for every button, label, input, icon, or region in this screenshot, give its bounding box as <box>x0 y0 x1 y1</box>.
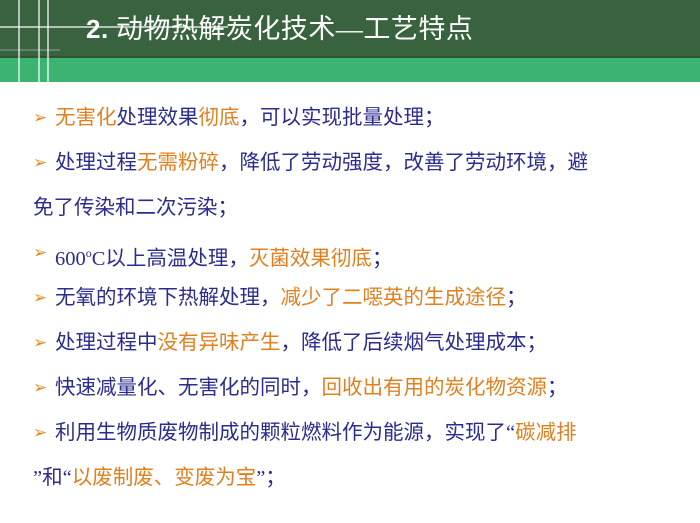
bullet-2-segment-3: ，降低了劳动强度，改善了劳动环境，避 <box>219 152 588 174</box>
bullet-2: ➢处理过程无需粉碎，降低了劳动强度，改善了劳动环境，避 <box>0 141 700 186</box>
bullet-6-text: 快速减量化、无害化的同时，回收出有用的炭化物资源； <box>35 366 568 411</box>
header-light-band <box>0 58 700 82</box>
bullet-1-segment-3: 彻底 <box>199 107 240 129</box>
bullet-2-continuation-text: 免了传染和二次污染； <box>33 186 238 231</box>
bullet-3-segment-5: ； <box>372 248 393 270</box>
arrow-right-bullet-icon: ➢ <box>33 141 47 186</box>
bullet-2-segment-1: 处理过程 <box>55 152 137 174</box>
header-bottom-edge <box>0 82 700 85</box>
bullet-4-text: 无氧的环境下热解处理，减少了二噁英的生成途径； <box>35 276 527 321</box>
bullet-3-segment-4: 灭菌效果彻底 <box>249 248 372 270</box>
bullet-1: ➢无害化处理效果彻底，可以实现批量处理； <box>0 96 700 141</box>
bullet-2-continuation: 免了传染和二次污染； <box>0 186 700 231</box>
bullet-4-segment-2: 减少了二噁英的生成途径 <box>281 287 507 309</box>
arrow-right-bullet-icon: ➢ <box>33 411 47 456</box>
bullet-3: ➢600oC以上高温处理，灭菌效果彻底； <box>0 231 700 276</box>
arrow-right-bullet-icon: ➢ <box>33 276 47 321</box>
bullet-1-text: 无害化处理效果彻底，可以实现批量处理； <box>35 96 445 141</box>
arrow-right-bullet-icon: ➢ <box>33 231 47 276</box>
decorative-grid-line-vertical-3 <box>47 0 49 83</box>
bullet-3-segment-1: 600 <box>55 248 86 270</box>
bullet-5-segment-3: ，降低了后续烟气处理成本； <box>281 332 548 354</box>
slide-title-text: 动物热解炭化技术—工艺特点 <box>116 14 474 44</box>
bullet-7-text: 利用生物质废物制成的颗粒燃料作为能源，实现了“碳减排 <box>35 411 577 456</box>
bullet-7: ➢利用生物质废物制成的颗粒燃料作为能源，实现了“碳减排 <box>0 411 700 456</box>
bullet-6-segment-1: 快速减量化、无害化的同时， <box>55 377 322 399</box>
arrow-right-bullet-icon: ➢ <box>33 321 47 366</box>
bullet-5-text: 处理过程中没有异味产生，降低了后续烟气处理成本； <box>35 321 547 366</box>
bullet-7-continuation-text: ”和“以废制废、变废为宝”； <box>33 456 286 501</box>
decorative-grid-line-vertical-1 <box>18 0 20 83</box>
bullet-7-cont-segment-3: ”； <box>256 467 286 489</box>
bullet-1-segment-1: 无害化 <box>55 107 117 129</box>
bullet-6: ➢快速减量化、无害化的同时，回收出有用的炭化物资源； <box>0 366 700 411</box>
bullet-5-segment-2: 没有异味产生 <box>158 332 281 354</box>
bullet-7-cont-segment-2: 以废制废、变废为宝 <box>72 467 257 489</box>
bullet-7-segment-2: 碳减排 <box>515 422 577 444</box>
bullet-3-segment-3: C以上高温处理， <box>92 248 249 270</box>
slide-title: 2. 动物热解炭化技术—工艺特点 <box>86 6 686 52</box>
bullet-4-segment-1: 无氧的环境下热解处理， <box>55 287 281 309</box>
bullet-7-continuation: ”和“以废制废、变废为宝”； <box>0 456 700 501</box>
bullet-5: ➢处理过程中没有异味产生，降低了后续烟气处理成本； <box>0 321 700 366</box>
bullet-5-segment-1: 处理过程中 <box>55 332 158 354</box>
slide-canvas: 2. 动物热解炭化技术—工艺特点 ➢无害化处理效果彻底，可以实现批量处理；➢处理… <box>0 0 700 523</box>
bullet-1-segment-4: ，可以实现批量处理； <box>240 107 445 129</box>
bullet-2-segment-2: 无需粉碎 <box>137 152 219 174</box>
arrow-right-bullet-icon: ➢ <box>33 366 47 411</box>
bullet-4-segment-3: ； <box>506 287 527 309</box>
bullet-6-segment-2: 回收出有用的炭化物资源 <box>322 377 548 399</box>
bullet-1-segment-2: 处理效果 <box>117 107 199 129</box>
bullet-6-segment-3: ； <box>547 377 568 399</box>
bullet-2-cont-segment-1: 免了传染和二次污染； <box>33 197 238 219</box>
decorative-grid-line-vertical-2 <box>38 0 40 83</box>
bullet-4: ➢无氧的环境下热解处理，减少了二噁英的生成途径； <box>0 276 700 321</box>
bullet-7-segment-1: 利用生物质废物制成的颗粒燃料作为能源，实现了“ <box>55 422 515 444</box>
slide-header: 2. 动物热解炭化技术—工艺特点 <box>0 0 700 83</box>
slide-title-number: 2. <box>86 14 109 44</box>
arrow-right-bullet-icon: ➢ <box>33 96 47 141</box>
decorative-grid-line-horizontal-2 <box>0 49 60 51</box>
slide-body: ➢无害化处理效果彻底，可以实现批量处理；➢处理过程无需粉碎，降低了劳动强度，改善… <box>0 96 700 523</box>
bullet-7-cont-segment-1: ”和“ <box>33 467 72 489</box>
bullet-2-text: 处理过程无需粉碎，降低了劳动强度，改善了劳动环境，避 <box>35 141 588 186</box>
bullet-3-text: 600oC以上高温处理，灭菌效果彻底； <box>35 231 392 282</box>
